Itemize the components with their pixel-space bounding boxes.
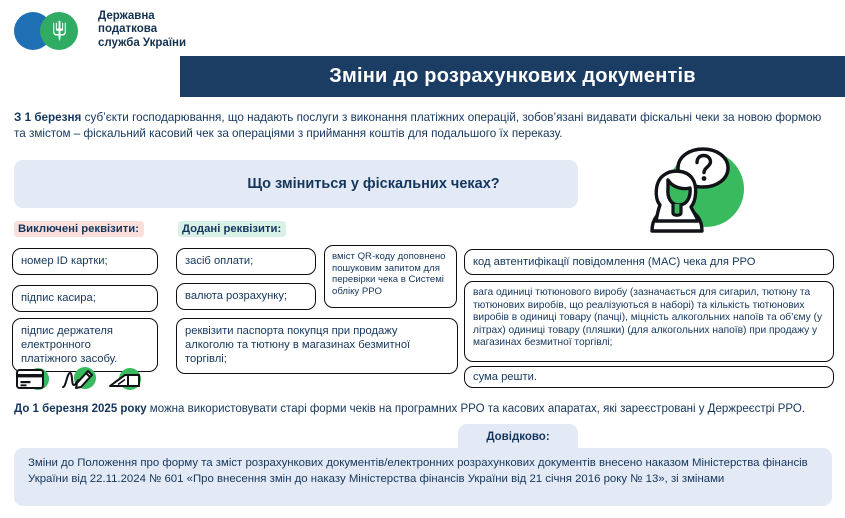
signature-pen-icon <box>60 364 98 394</box>
intro-rest: суб’єкти господарювання, що надають посл… <box>14 111 821 140</box>
reference-body-text: Зміни до Положення про форму та зміст ро… <box>14 448 832 506</box>
added-item-mac-code: код автентифікації повідомлення (MAC) че… <box>464 249 834 275</box>
hand-card-icon <box>106 364 144 394</box>
added-item-payment-method: засіб оплати; <box>176 248 316 275</box>
id-card-icon <box>14 364 52 394</box>
transition-note-rest: можна використовувати старі форми чеків … <box>147 403 805 415</box>
column-header-added: Додані реквізити: <box>178 221 286 237</box>
agency-logo: Державна податкова служба України <box>14 8 186 52</box>
people-question-icon <box>648 143 754 235</box>
logo-text: Державна податкова служба України <box>98 10 186 51</box>
added-item-qr-code: вміст QR-коду доповнено пошуковим запито… <box>324 245 457 308</box>
people-question-illustration <box>648 143 754 235</box>
logo-green-circle <box>40 12 78 50</box>
page-title: Зміни до розрахункових документів <box>329 65 696 88</box>
excluded-item-id-card: номер ID картки; <box>12 248 158 275</box>
question-text: Що зміниться у фіскальних чеках? <box>244 175 504 193</box>
added-item-tobacco-alcohol-details: вага одиниці тютюнового виробу (зазначає… <box>464 281 834 362</box>
trident-icon <box>51 20 68 42</box>
added-item-passport-details: реквізити паспорта покупця при продажу а… <box>176 318 458 374</box>
logo-marks <box>14 10 94 50</box>
intro-bold-lead: З 1 березня <box>14 111 81 124</box>
page-header-banner: Зміни до розрахункових документів <box>180 56 845 97</box>
intro-paragraph: З 1 березня суб’єкти господарювання, що … <box>14 110 832 142</box>
transition-note: До 1 березня 2025 року можна використову… <box>14 402 832 418</box>
added-item-change-amount: сума решти. <box>464 366 834 388</box>
transition-note-bold-lead: До 1 березня 2025 року <box>14 403 147 415</box>
column-header-excluded: Виключені реквізити: <box>14 221 144 237</box>
excluded-icons-row <box>14 362 144 396</box>
excluded-item-cashier-signature: підпис касира; <box>12 285 158 312</box>
added-item-settlement-currency: валюта розрахунку; <box>176 283 316 310</box>
reference-tab-label: Довідково: <box>458 424 578 450</box>
question-banner: Що зміниться у фіскальних чеках? <box>14 160 578 208</box>
